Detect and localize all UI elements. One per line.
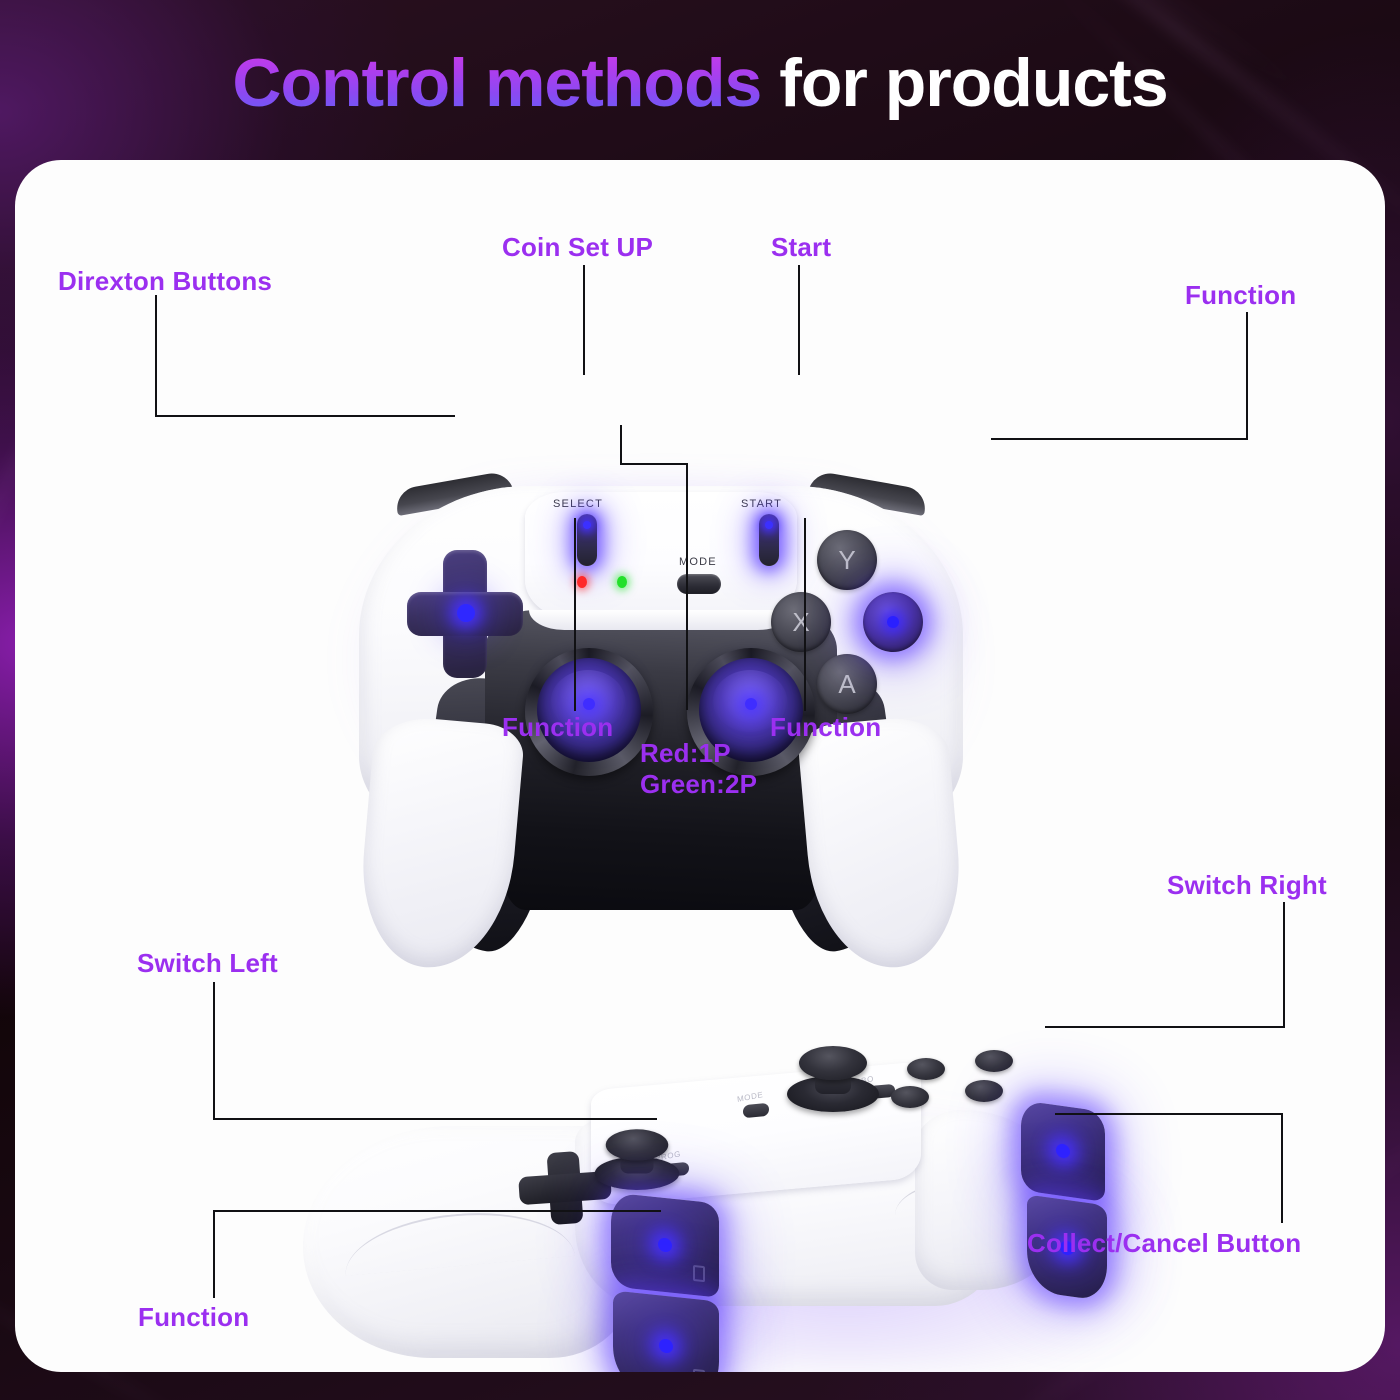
controller-back-view: PROG MODE TURBO: [275, 1020, 1155, 1372]
controller-front-view: SELECT START MODE Y X A: [331, 470, 991, 980]
start-button[interactable]: [759, 514, 779, 566]
leader-line-function-left-trigger: [213, 1210, 215, 1298]
leader-line-collect-cancel: [1055, 1113, 1283, 1115]
back-view-left-analog-stick[interactable]: [595, 1144, 680, 1190]
callout-label-direction-buttons: Direxton Buttons: [58, 266, 272, 297]
leader-line-coin-set-up: [583, 265, 585, 375]
dpad-led-core: [457, 604, 475, 622]
back-view-face-button[interactable]: [975, 1050, 1013, 1072]
callout-label-switch-right: Switch Right: [1167, 870, 1327, 901]
callout-label-function-left-stick: Function: [502, 712, 613, 743]
controller-center-plate: [525, 492, 797, 620]
face-button-b-led: [887, 616, 899, 628]
trigger-notch: [693, 1369, 705, 1372]
back-view-face-button[interactable]: [891, 1086, 929, 1108]
stick-cap: [799, 1046, 867, 1080]
leader-line-switch-right: [1283, 902, 1285, 1028]
leader-line-player-leds: [620, 463, 688, 465]
callout-label-function-b: Function: [1185, 280, 1296, 311]
mode-button[interactable]: [677, 574, 721, 594]
leader-line-function-b: [1246, 312, 1248, 440]
right-shoulder-r1-led: [1056, 1143, 1070, 1159]
leader-line-switch-left: [213, 982, 215, 1120]
backplate-marking: MODE: [737, 1090, 764, 1104]
leader-line-switch-right: [1045, 1026, 1285, 1028]
leader-line-collect-cancel: [1281, 1113, 1283, 1223]
led-green-indicator: [617, 576, 627, 588]
left-trigger-l2-led: [659, 1338, 673, 1353]
leader-line-switch-left: [213, 1118, 657, 1120]
callout-label-player-leds-line1: Red:1P: [640, 738, 757, 769]
face-button-a[interactable]: A: [817, 654, 877, 714]
leader-line-function-right-stick: [804, 518, 806, 711]
leader-line-function-b: [991, 438, 1248, 440]
leader-line-start: [798, 265, 800, 375]
callout-label-player-leds: Red:1P Green:2P: [640, 738, 757, 800]
leader-line-player-leds: [620, 425, 622, 465]
leader-line-direction-buttons: [155, 295, 157, 417]
face-button-x[interactable]: X: [771, 592, 831, 652]
right-shoulder-button-r1[interactable]: [1021, 1100, 1105, 1202]
leader-line-direction-buttons: [155, 415, 455, 417]
left-shoulder-l1-led: [658, 1237, 672, 1252]
mode-marking: MODE: [679, 556, 717, 568]
callout-label-switch-left: Switch Left: [137, 948, 278, 979]
left-stick-led: [583, 698, 595, 710]
leader-line-function-left-stick: [574, 518, 576, 711]
right-stick-led: [745, 698, 757, 710]
face-button-b[interactable]: [863, 592, 923, 652]
start-marking: START: [741, 498, 782, 510]
callout-label-function-right-stick: Function: [770, 712, 881, 743]
callout-label-coin-set-up: Coin Set UP: [502, 232, 653, 263]
callout-label-player-leds-line2: Green:2P: [640, 769, 757, 800]
content-card: SELECT START MODE Y X A: [15, 160, 1385, 1372]
callout-label-collect-cancel: Collect/Cancel Button: [1027, 1228, 1301, 1259]
select-marking: SELECT: [553, 498, 603, 510]
left-trigger-button-l2[interactable]: [613, 1290, 719, 1372]
page-title-plain: for products: [761, 45, 1167, 121]
leader-line-player-leds: [686, 463, 688, 710]
led-red-indicator: [577, 576, 587, 588]
backplate-small-button[interactable]: [743, 1103, 769, 1118]
page-title: Control methods for products: [0, 44, 1400, 122]
dpad[interactable]: [407, 550, 523, 678]
back-view-face-button[interactable]: [907, 1058, 945, 1080]
callout-label-start: Start: [771, 232, 831, 263]
select-button[interactable]: [577, 514, 597, 566]
controller-center-plate-lip: [529, 610, 793, 630]
trigger-notch: [693, 1265, 705, 1282]
back-view-right-analog-stick[interactable]: [787, 1062, 879, 1112]
stick-cap: [606, 1129, 669, 1160]
face-button-y[interactable]: Y: [817, 530, 877, 590]
leader-line-function-left-trigger: [213, 1210, 661, 1212]
left-shoulder-button-l1[interactable]: [611, 1192, 719, 1297]
page-title-accent: Control methods: [232, 45, 761, 121]
callout-label-function-left-trigger: Function: [138, 1302, 249, 1333]
back-view-face-button[interactable]: [965, 1080, 1003, 1102]
